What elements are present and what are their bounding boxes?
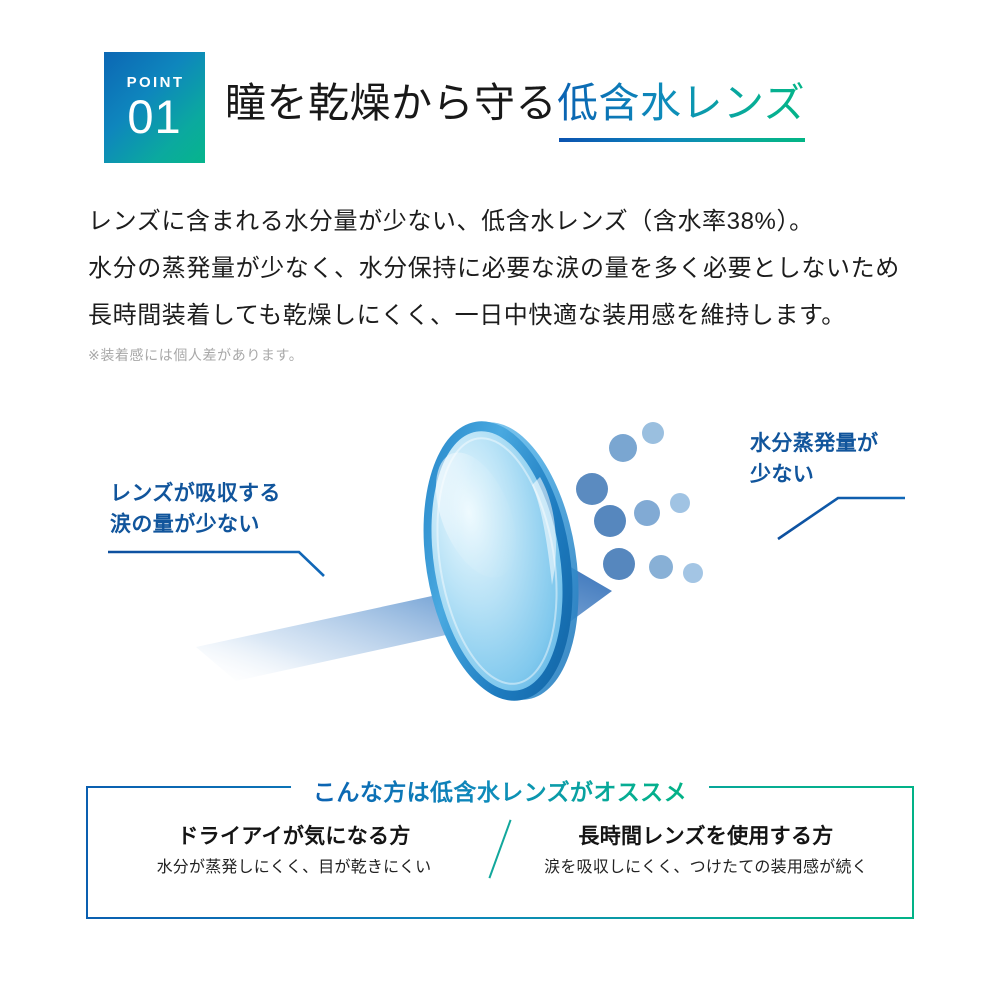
body-line-3: 長時間装着しても乾燥しにくく、一日中快適な装用感を維持します。 <box>88 292 928 339</box>
recommendation-title-text: こんな方は低含水レンズがオススメ <box>313 779 687 805</box>
droplet <box>603 548 635 580</box>
recommendation-column-subtitle: 水分が蒸発しにくく、目が乾きにくい <box>102 854 486 882</box>
page-title-accent: 低含水レンズ <box>557 80 805 126</box>
droplet <box>634 500 660 526</box>
droplet <box>609 434 637 462</box>
recommendation-inner: こんな方は低含水レンズがオススメ ドライアイが気になる方 水分が蒸発しにくく、目… <box>88 788 912 917</box>
callout-right-line-2: 少ない <box>750 459 878 490</box>
droplet <box>642 422 664 444</box>
body-copy: レンズに含まれる水分量が少ない、低含水レンズ（含水率38%）。 水分の蒸発量が少… <box>88 198 928 339</box>
page-title-plain: 瞳を乾燥から守る <box>225 69 557 129</box>
body-line-1: レンズに含まれる水分量が少ない、低含水レンズ（含水率38%）。 <box>88 198 928 245</box>
recommendation-columns: ドライアイが気になる方 水分が蒸発しにくく、目が乾きにくい 長時間レンズを使用す… <box>88 822 912 882</box>
callout-left-line-1: レンズが吸収する <box>110 478 281 509</box>
point-badge-number: 01 <box>127 93 181 140</box>
recommendation-column: ドライアイが気になる方 水分が蒸発しにくく、目が乾きにくい <box>88 822 500 882</box>
recommendation-box: こんな方は低含水レンズがオススメ ドライアイが気になる方 水分が蒸発しにくく、目… <box>86 786 914 919</box>
contact-lens <box>405 410 597 711</box>
recommendation-column-title: ドライアイが気になる方 <box>102 822 486 852</box>
droplet <box>670 493 690 513</box>
moisture-droplets <box>576 422 703 583</box>
footnote: ※装着感には個人差があります。 <box>88 345 303 365</box>
point-badge-label: POINT <box>125 75 185 90</box>
callout-right-leader <box>778 498 905 539</box>
header: POINT 01 瞳を乾燥から守る 低含水レンズ <box>104 52 805 163</box>
header-title: 瞳を乾燥から守る 低含水レンズ <box>225 69 805 146</box>
body-line-2: 水分の蒸発量が少なく、水分保持に必要な涙の量を多く必要としないため <box>88 245 928 292</box>
infographic-page: POINT 01 瞳を乾燥から守る 低含水レンズ レンズに含まれる水分量が少ない… <box>0 0 1000 1000</box>
page-title-accent-wrap: 低含水レンズ <box>557 69 805 142</box>
title-underline <box>559 138 805 142</box>
droplet <box>649 555 673 579</box>
callout-left: レンズが吸収する 涙の量が少ない <box>110 478 281 540</box>
recommendation-column: 長時間レンズを使用する方 涙を吸収しにくく、つけたての装用感が続く <box>500 822 912 882</box>
droplet <box>683 563 703 583</box>
droplet <box>594 505 626 537</box>
recommendation-column-title: 長時間レンズを使用する方 <box>514 822 898 852</box>
point-badge: POINT 01 <box>104 52 205 163</box>
droplet <box>576 473 608 505</box>
recommendation-title: こんな方は低含水レンズがオススメ <box>291 773 709 807</box>
recommendation-column-subtitle: 涙を吸収しにくく、つけたての装用感が続く <box>514 854 898 882</box>
callout-left-leader <box>108 552 324 576</box>
callout-left-line-2: 涙の量が少ない <box>110 509 281 540</box>
callout-right: 水分蒸発量が 少ない <box>750 428 878 490</box>
callout-right-line-1: 水分蒸発量が <box>750 428 878 459</box>
